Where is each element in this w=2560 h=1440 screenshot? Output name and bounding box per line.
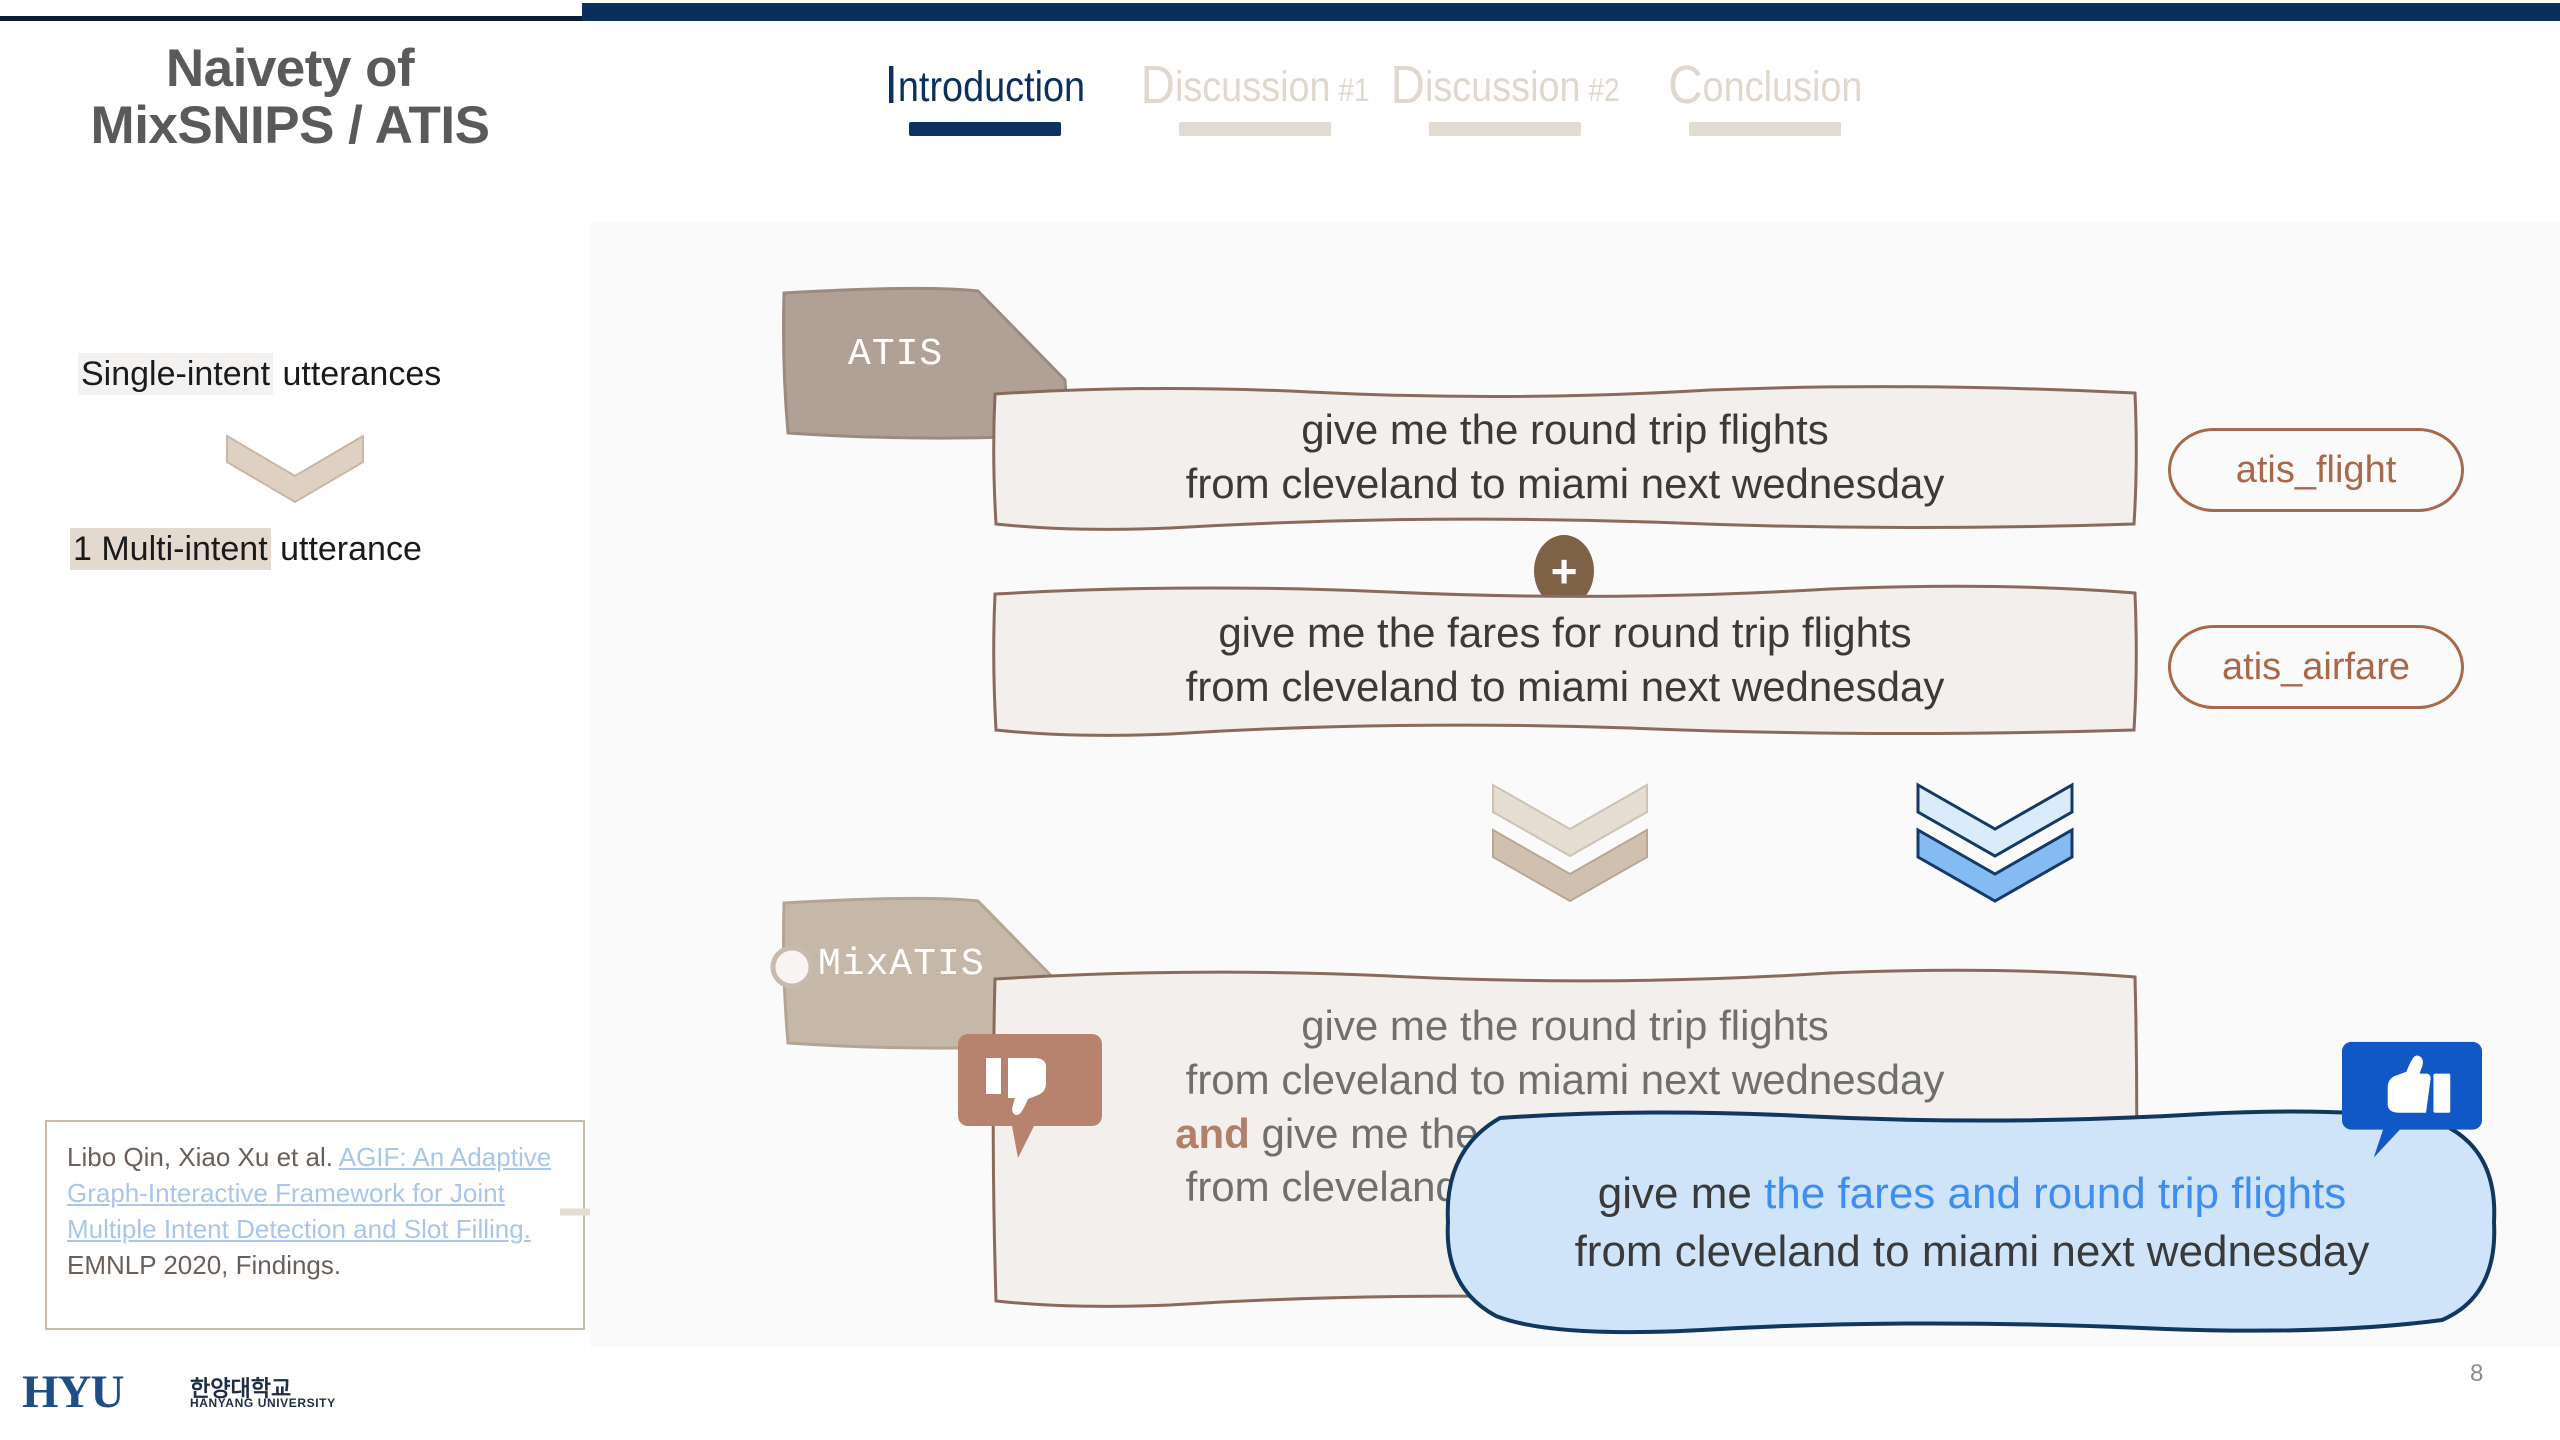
utterance-box-2-text: give me the fares for round trip flights… bbox=[990, 580, 2140, 740]
callout-highlight: the fares and round trip flights bbox=[1764, 1169, 2346, 1218]
double-chevron-down-icon-blue bbox=[1915, 782, 2075, 902]
utterance-3-line1: give me the round trip flights bbox=[1301, 999, 1829, 1053]
tab-conclusion[interactable]: Conclusion bbox=[1600, 58, 1930, 136]
utterance-box-1-text: give me the round trip flights from clev… bbox=[990, 382, 2140, 532]
tab-conclusion-rest: onclusion bbox=[1702, 63, 1862, 111]
intent-pill-atis-airfare: atis_airfare bbox=[2168, 625, 2464, 709]
page-title-line1: Naivety of bbox=[166, 39, 414, 98]
top-accent-bar-left bbox=[0, 16, 582, 21]
page-title-line2: MixSNIPS / ATIS bbox=[10, 97, 570, 154]
tab-conclusion-underline bbox=[1689, 122, 1841, 136]
tab-introduction-cap: I bbox=[885, 55, 898, 115]
tab-discussion-1-label: Discussion #1 bbox=[1140, 58, 1369, 112]
citation-box: Libo Qin, Xiao Xu et al. AGIF: An Adapti… bbox=[45, 1120, 585, 1330]
hyu-logo-english: HANYANG UNIVERSITY bbox=[190, 1396, 336, 1410]
citation-authors: Libo Qin, Xiao Xu et al. bbox=[67, 1142, 339, 1172]
intent-pill-atis-flight: atis_flight bbox=[2168, 428, 2464, 512]
citation-venue: EMNLP 2020, Findings. bbox=[67, 1250, 341, 1280]
mixatis-tag-label: MixATIS bbox=[818, 943, 985, 986]
thumbs-up-icon bbox=[2342, 1040, 2482, 1152]
tab-discussion-1-underline bbox=[1179, 122, 1331, 136]
hyu-logo-text: HYU bbox=[22, 1365, 123, 1419]
multi-intent-rest: utterance bbox=[271, 530, 422, 568]
utterance-3-line2: from cleveland to miami next wednesday bbox=[1186, 1053, 1945, 1107]
tab-discussion-1-cap: D bbox=[1140, 55, 1174, 115]
tab-conclusion-label: Conclusion bbox=[1668, 58, 1862, 112]
multi-intent-label: 1 Multi-intent utterance bbox=[70, 530, 422, 569]
hanyang-logo: HYU 한양대학교 HANYANG UNIVERSITY bbox=[22, 1371, 282, 1419]
tab-discussion-1-rest: iscussion bbox=[1175, 63, 1331, 111]
callout-line2: from cleveland to miami next wednesday bbox=[1575, 1223, 2370, 1280]
tab-introduction-rest: ntroduction bbox=[898, 63, 1085, 111]
double-chevron-down-icon-tan bbox=[1490, 782, 1650, 902]
multi-intent-highlight: 1 Multi-intent bbox=[70, 528, 271, 570]
tab-discussion-2-rest: iscussion bbox=[1425, 63, 1581, 111]
tab-conclusion-cap: C bbox=[1668, 55, 1702, 115]
atis-tag-label: ATIS bbox=[848, 333, 943, 376]
page-title: Naivety of MixSNIPS / ATIS bbox=[10, 40, 570, 154]
callout-prefix: give me bbox=[1598, 1169, 1764, 1218]
top-accent-bar-right bbox=[582, 3, 2560, 21]
utterance-3-and: and bbox=[1175, 1110, 1250, 1157]
chevron-down-icon bbox=[225, 432, 365, 502]
tab-discussion-2-cap: D bbox=[1390, 55, 1424, 115]
slide-root: Naivety of MixSNIPS / ATIS Introduction … bbox=[0, 0, 2560, 1440]
single-intent-label: Single-intent utterances bbox=[78, 355, 441, 394]
tab-introduction-label: Introduction bbox=[885, 58, 1085, 112]
callout-line1: give me the fares and round trip flights bbox=[1598, 1165, 2346, 1222]
single-intent-highlight: Single-intent bbox=[78, 353, 273, 395]
utterance-1-line2: from cleveland to miami next wednesday bbox=[1186, 457, 1945, 511]
atis-utterance-box-2: give me the fares for round trip flights… bbox=[990, 580, 2140, 740]
connector-node-icon bbox=[773, 948, 811, 986]
tab-introduction[interactable]: Introduction bbox=[840, 58, 1130, 136]
section-nav: Introduction Discussion #1 Discussion #2… bbox=[840, 58, 1960, 158]
page-number: 8 bbox=[2470, 1360, 2483, 1388]
utterance-2-line2: from cleveland to miami next wednesday bbox=[1186, 660, 1945, 714]
utterance-1-line1: give me the round trip flights bbox=[1301, 403, 1829, 457]
tab-introduction-underline bbox=[909, 122, 1061, 136]
thumbs-down-icon bbox=[960, 1030, 1100, 1142]
utterance-2-line1: give me the fares for round trip flights bbox=[1218, 606, 1911, 660]
single-intent-rest: utterances bbox=[273, 355, 441, 393]
tab-discussion-2-label: Discussion #2 bbox=[1390, 58, 1619, 112]
tab-discussion-2-underline bbox=[1429, 122, 1581, 136]
atis-utterance-box-1: give me the round trip flights from clev… bbox=[990, 382, 2140, 532]
